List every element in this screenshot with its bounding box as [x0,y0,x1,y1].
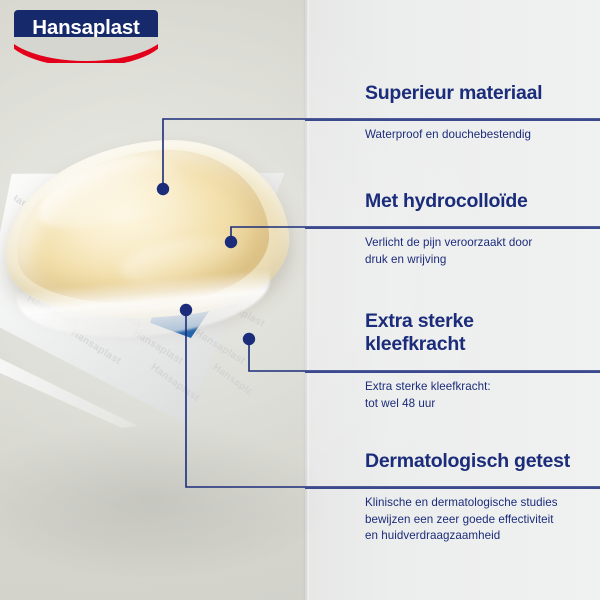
feature-block-met-hydrocolloide: Met hydrocolloïde [365,190,587,213]
feature-body-line: druk en wrijving [365,252,587,269]
logo-red-swoosh [14,37,158,63]
feature-block-dermatologisch-getest: Dermatologisch getest [365,450,587,473]
feature-body-line: bewijzen een zeer goede effectiviteit [365,512,587,529]
feature-body-dermatologisch-getest: Klinische en dermatologische studies bew… [365,495,587,545]
feature-title: Extra sterke [365,310,587,333]
infographic-poster: Hansaplast HansaplastHansaplastHansaplas… [0,0,600,600]
feature-body-line: Klinische en dermatologische studies [365,495,587,512]
feature-rule-1 [305,119,600,121]
feature-block-extra-sterke-kleefkracht: Extra sterke kleefkracht [365,310,587,356]
backing-watermark-text: Hansaplast [211,362,263,404]
backing-watermark-text: Hansaplast [193,327,247,366]
product-image: HansaplastHansaplastHansaplastHansaplast… [0,120,330,450]
feature-body-line: Waterproof en douchebestendig [365,127,587,144]
feature-rule-4 [305,487,600,489]
feature-body-line: Extra sterke kleefkracht: [365,379,587,396]
feature-title: Dermatologisch getest [365,450,587,473]
feature-title: Superieur materiaal [365,82,587,105]
backing-watermark-text: Hansaplast [149,362,201,404]
feature-body-line: tot wel 48 uur [365,396,587,413]
feature-body-met-hydrocolloide: Verlicht de pijn veroorzaakt door druk e… [365,235,587,268]
feature-body-line: en huidverdraagzaamheid [365,528,587,545]
hansaplast-logo: Hansaplast [14,10,158,62]
feature-block-superieur-materiaal: Superieur materiaal [365,82,587,105]
feature-title: kleefkracht [365,333,587,356]
feature-rule-3 [305,371,600,373]
feature-body-extra-sterke-kleefkracht: Extra sterke kleefkracht: tot wel 48 uur [365,379,587,412]
feature-body-superieur-materiaal: Waterproof en douchebestendig [365,127,587,144]
feature-body-line: Verlicht de pijn veroorzaakt door [365,235,587,252]
feature-title: Met hydrocolloïde [365,190,587,213]
feature-rule-2 [305,227,600,229]
